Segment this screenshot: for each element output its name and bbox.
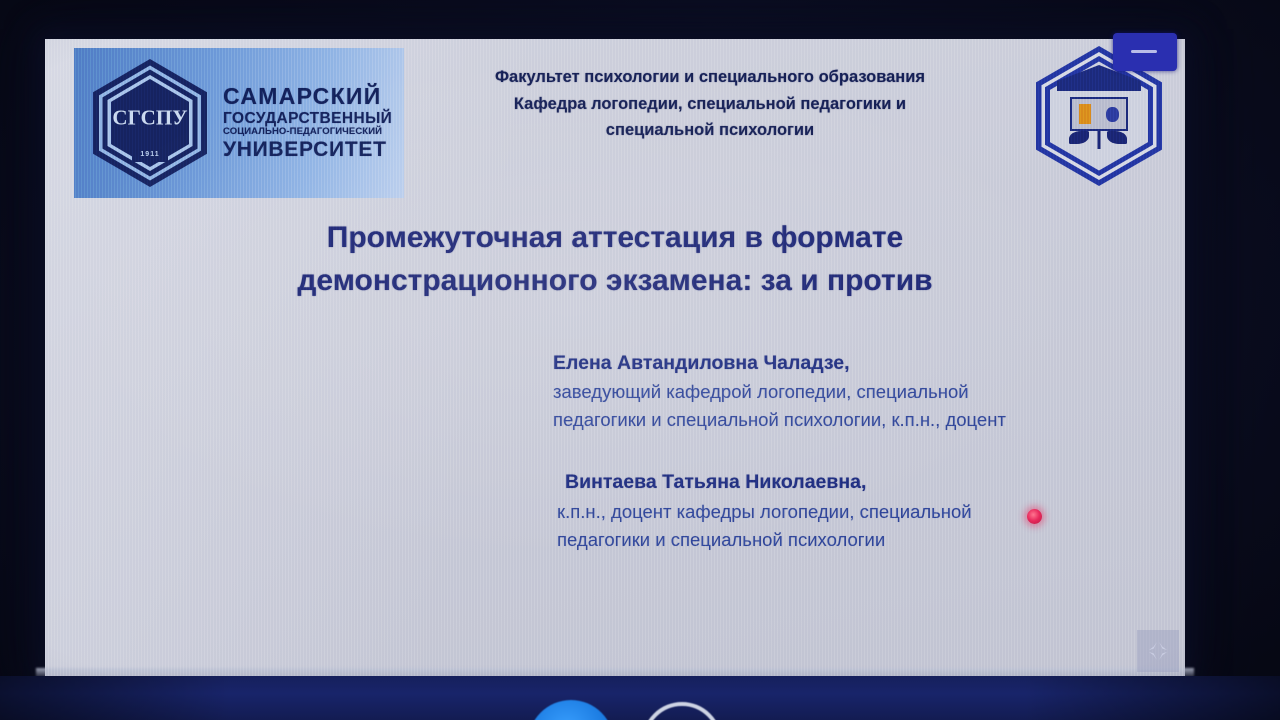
author-role-line: заведующий кафедрой логопедии, специальн… <box>553 378 1163 406</box>
author-entry: Елена Автандиловна Чаладзе, заведующий к… <box>553 349 1163 434</box>
department-header-line-2: Кафедра логопедии, специальной педагогик… <box>405 91 1015 118</box>
author-name: Елена Автандиловна Чаладзе, <box>553 349 1163 378</box>
author-entry: Винтаева Татьяна Николаевна, к.п.н., доц… <box>553 468 1163 553</box>
author-role-line: к.п.н., доцент кафедры логопедии, специа… <box>553 498 1163 526</box>
department-header-line-3: специальной психологии <box>405 117 1015 144</box>
slide-title: Промежуточная аттестация в формате демон… <box>145 217 1085 302</box>
university-logo-block: СГСПУ 1911 САМАРСКИЙ ГОСУДАРСТВЕННЫЙ СОЦ… <box>74 48 404 198</box>
presentation-slide[interactable]: СГСПУ 1911 САМАРСКИЙ ГОСУДАРСТВЕННЫЙ СОЦ… <box>45 39 1185 676</box>
authors-list: Елена Автандиловна Чаладзе, заведующий к… <box>553 349 1163 588</box>
university-name-line-2: ГОСУДАРСТВЕННЫЙ <box>223 110 392 127</box>
laser-pointer-dot <box>1027 509 1042 524</box>
slide-title-line-1: Промежуточная аттестация в формате <box>145 217 1085 260</box>
university-name-line-3: СОЦИАЛЬНО-ПЕДАГОГИЧЕСКИЙ <box>223 127 392 138</box>
sgspu-hexagon-logo-icon: СГСПУ 1911 <box>91 57 209 189</box>
logo-year: 1911 <box>140 151 159 158</box>
emblem-stem <box>1098 131 1101 149</box>
emblem-board-icon <box>1070 97 1128 131</box>
author-role-line: педагогики и специальной психологии <box>553 526 1163 554</box>
university-name: САМАРСКИЙ ГОСУДАРСТВЕННЫЙ СОЦИАЛЬНО-ПЕДА… <box>223 84 392 161</box>
university-name-line-1: САМАРСКИЙ <box>223 84 392 110</box>
author-name: Винтаева Татьяна Николаевна, <box>553 468 1163 497</box>
university-name-line-4: УНИВЕРСИТЕТ <box>223 138 392 162</box>
author-role-line: педагогики и специальной психологии, к.п… <box>553 406 1163 434</box>
fullscreen-expand-icon[interactable] <box>1137 630 1179 672</box>
logo-abbreviation: СГСПУ <box>112 105 187 130</box>
projected-slide-scene: СГСПУ 1911 САМАРСКИЙ ГОСУДАРСТВЕННЫЙ СОЦ… <box>0 0 1280 720</box>
taskbar-panel <box>0 676 1280 720</box>
minimize-icon[interactable] <box>1113 33 1177 71</box>
department-header-line-1: Факультет психологии и специального обра… <box>405 64 1015 91</box>
department-header: Факультет психологии и специального обра… <box>405 64 1015 144</box>
slide-title-line-2: демонстрационного экзамена: за и против <box>145 260 1085 303</box>
